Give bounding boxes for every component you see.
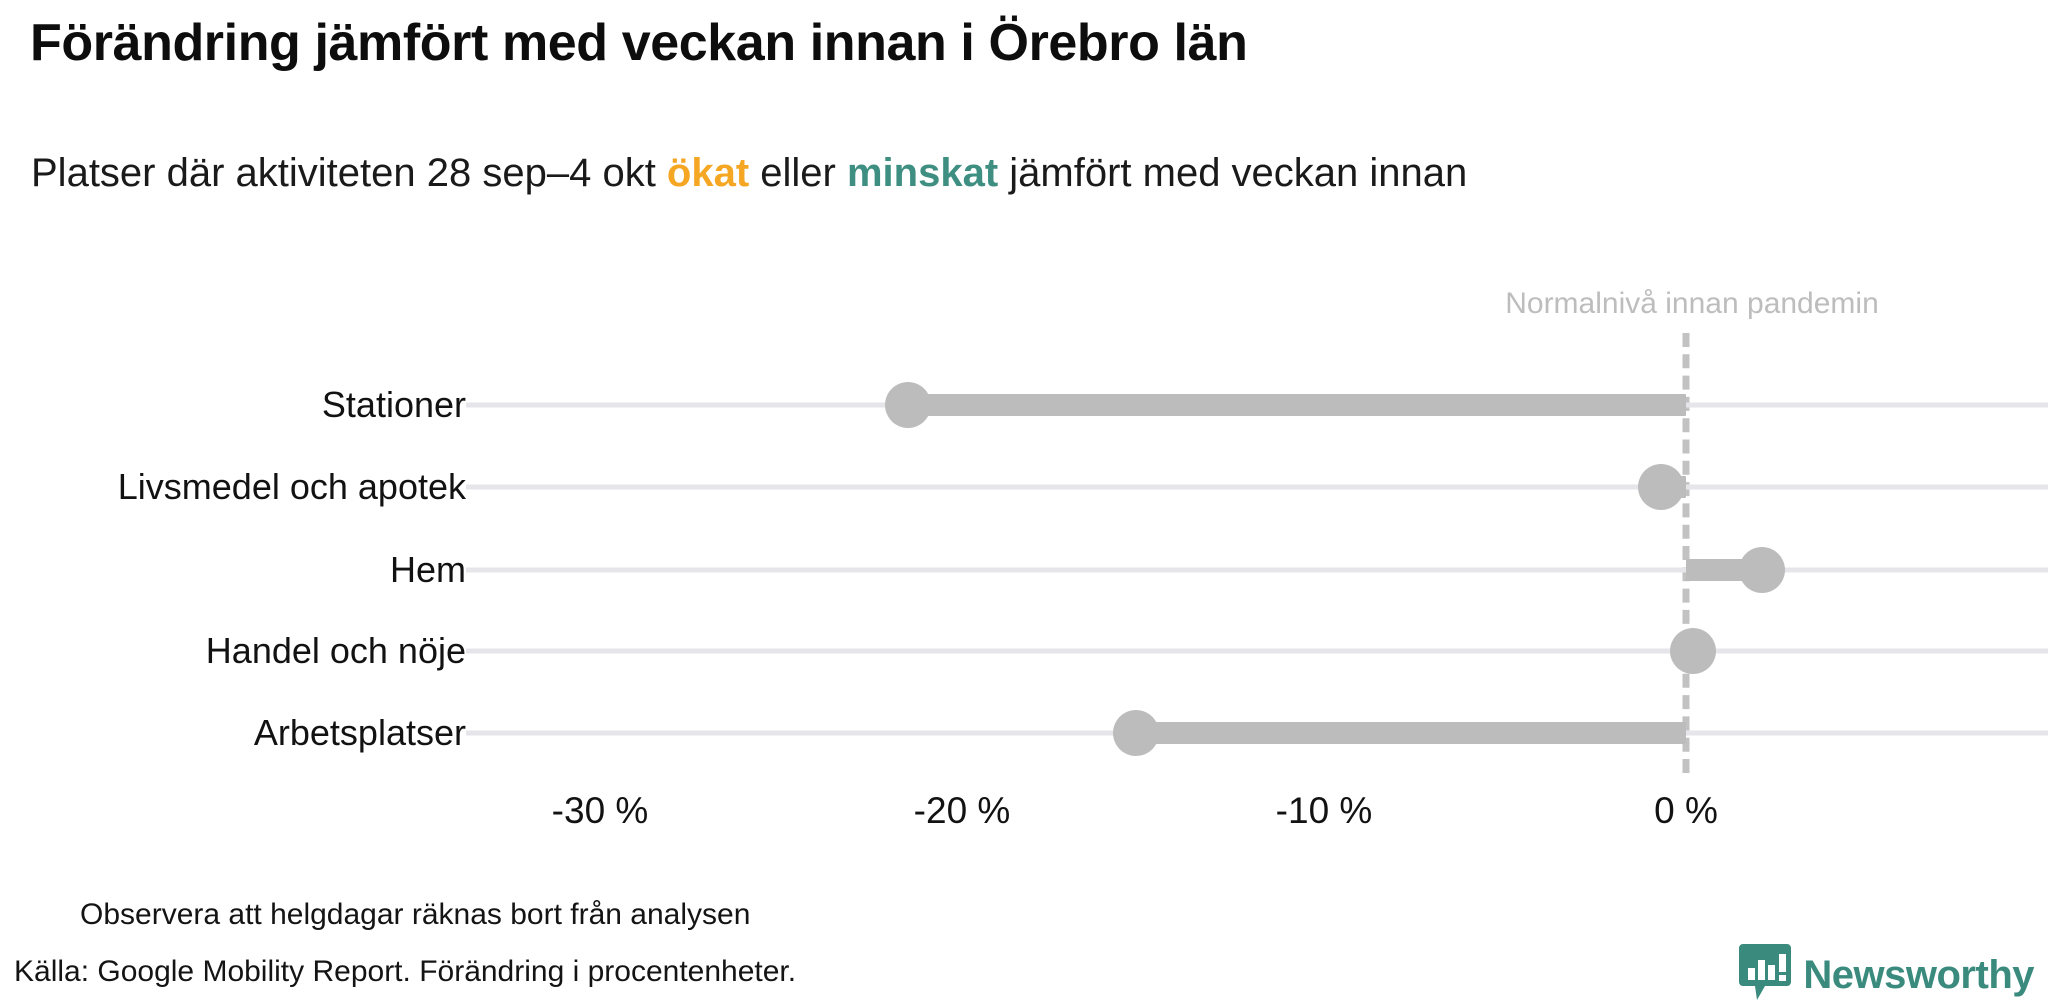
gridline <box>466 649 2048 654</box>
data-point-marker[interactable] <box>1670 628 1716 674</box>
data-point-marker[interactable] <box>885 382 931 428</box>
x-axis-tick-label: -20 % <box>914 790 1011 832</box>
x-axis-tick-label: -10 % <box>1276 790 1373 832</box>
chart-note: Observera att helgdagar räknas bort från… <box>80 898 750 932</box>
data-point-marker[interactable] <box>1638 464 1684 510</box>
chart-canvas: Förändring jämfört med veckan innan i Ör… <box>0 0 2048 1000</box>
category-label: Stationer <box>322 387 466 423</box>
data-point-marker[interactable] <box>1113 710 1159 756</box>
category-label: Handel och nöje <box>206 633 466 669</box>
newsworthy-bars-icon <box>1739 944 1791 1005</box>
x-axis-tick-label: -30 % <box>552 790 649 832</box>
category-label: Arbetsplatser <box>254 715 466 751</box>
category-label: Hem <box>390 552 466 588</box>
value-bar <box>908 394 1686 416</box>
zero-reference-label: Normalnivå innan pandemin <box>1505 285 1879 323</box>
plot-area: Normalnivå innan pandeminStationerLivsme… <box>0 0 2048 1000</box>
newsworthy-wordmark: Newsworthy <box>1803 955 2034 995</box>
newsworthy-logo[interactable]: Newsworthy <box>1739 944 2034 1005</box>
x-axis-tick-label: 0 % <box>1654 790 1718 832</box>
gridline <box>466 485 2048 490</box>
category-label: Livsmedel och apotek <box>118 469 466 505</box>
chart-source: Källa: Google Mobility Report. Förändrin… <box>14 955 796 989</box>
value-bar <box>1136 722 1686 744</box>
gridline <box>466 568 2048 573</box>
data-point-marker[interactable] <box>1739 547 1785 593</box>
